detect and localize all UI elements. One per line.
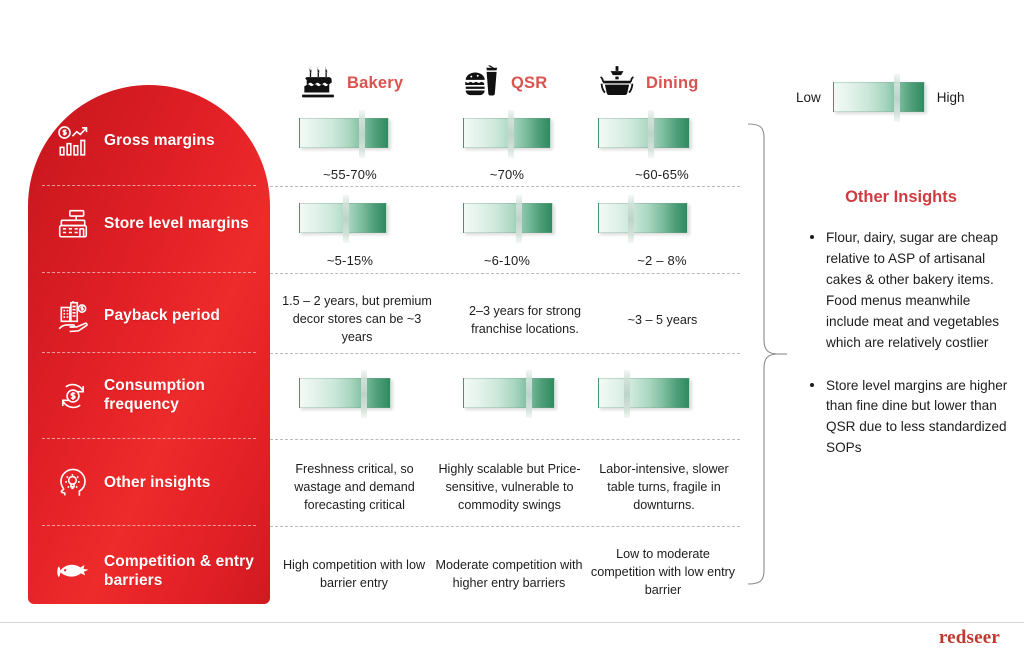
rating-bar-store-dining [598, 203, 688, 233]
sidebar-divider [42, 185, 256, 186]
head-lightbulb-icon [56, 466, 90, 500]
gradient-bar [598, 118, 690, 148]
rating-bar-gross-bakery [299, 118, 389, 148]
column-header-bakery[interactable]: Bakery [299, 64, 403, 102]
matrix-cell-text: Low to moderate competition with low ent… [588, 546, 738, 600]
gradient-bar [299, 118, 389, 148]
legend-high-label: High [937, 90, 965, 105]
sidebar-row-label: Competition & entry barriers [104, 553, 270, 591]
rating-bar-value: ~60-65% [602, 167, 722, 182]
legend-gradient-bar [833, 82, 925, 112]
column-header-label: QSR [511, 74, 547, 93]
bullet-icon [810, 235, 814, 239]
matrix-cell-text: High competition with low barrier entry [280, 557, 428, 593]
dollar-bar-chart-icon [56, 124, 90, 158]
bar-marker[interactable] [359, 110, 365, 158]
gradient-bar [463, 118, 551, 148]
sidebar-row-label: Other insights [104, 474, 210, 493]
legend-marker [894, 74, 900, 122]
bar-marker[interactable] [508, 110, 514, 158]
column-header-qsr[interactable]: QSR [463, 64, 547, 102]
matrix-cell-text: Labor-intensive, slower table turns, fra… [590, 461, 738, 515]
matrix-cell-text: ~3 – 5 years [600, 312, 725, 330]
rating-bar-value: ~6-10% [447, 253, 567, 268]
matrix-row-divider [270, 353, 740, 354]
dollar-refresh-cycle-icon [56, 379, 90, 413]
rating-bar-gross-qsr [463, 118, 551, 148]
sidebar-row-label: Gross margins [104, 132, 215, 151]
rating-bar-value: ~55-70% [290, 167, 410, 182]
sidebar-row-other-insights[interactable]: Other insights [28, 452, 270, 514]
legend-low-label: Low [796, 90, 821, 105]
birthday-cake-icon [299, 64, 337, 102]
gradient-bar [299, 203, 387, 233]
bar-marker[interactable] [526, 370, 532, 418]
other-insights-title: Other Insights [796, 188, 1006, 207]
matrix-row-divider [270, 439, 740, 440]
insight-item-text: Store level margins are higher than fine… [826, 378, 1007, 456]
buildings-in-hand-icon [56, 299, 90, 333]
scale-legend: Low High [796, 82, 965, 112]
bar-marker[interactable] [628, 195, 634, 243]
gradient-bar [463, 203, 553, 233]
matrix-cell-text: 2–3 years for strong franchise locations… [455, 303, 595, 339]
category-sidebar-panel: Gross margins Store level margins Paybac… [28, 85, 270, 604]
insight-item: Flour, dairy, sugar are cheap relative t… [806, 228, 1011, 354]
rating-bar-store-qsr [463, 203, 553, 233]
dining-table-icon [598, 64, 636, 102]
burger-drink-icon [463, 64, 501, 102]
rating-bar-cons-qsr [463, 378, 555, 408]
rating-bar-value: ~70% [447, 167, 567, 182]
sidebar-divider [42, 272, 256, 273]
infographic-page: Gross margins Store level margins Paybac… [0, 0, 1024, 656]
sidebar-row-store-level-margins[interactable]: Store level margins [28, 193, 270, 255]
column-header-label: Bakery [347, 74, 403, 93]
gradient-bar [299, 378, 391, 408]
matrix-row-divider [270, 526, 740, 527]
rating-bar-value: ~5-15% [290, 253, 410, 268]
column-header-label: Dining [646, 74, 699, 93]
sidebar-row-label: Store level margins [104, 215, 249, 234]
sidebar-row-gross-margins[interactable]: Gross margins [28, 105, 270, 177]
matrix-cell-text: Moderate competition with higher entry b… [430, 557, 588, 593]
sidebar-divider [42, 438, 256, 439]
sidebar-row-label: Payback period [104, 307, 220, 326]
sidebar-divider [42, 525, 256, 526]
rating-bar-value: ~2 – 8% [602, 253, 722, 268]
bar-marker[interactable] [361, 370, 367, 418]
gradient-bar [598, 203, 688, 233]
bar-marker[interactable] [343, 195, 349, 243]
rating-bar-gross-dining [598, 118, 690, 148]
bar-marker[interactable] [648, 110, 654, 158]
sidebar-divider [42, 352, 256, 353]
gradient-bar [598, 378, 690, 408]
matrix-row-divider [270, 186, 740, 187]
fish-arrow-icon [56, 555, 90, 589]
redseer-logo: redseer [939, 627, 1000, 649]
bar-marker[interactable] [624, 370, 630, 418]
sidebar-row-competition-entry-barriers[interactable]: Competition & entry barriers [28, 540, 270, 604]
matrix-cell-text: Highly scalable but Price-sensitive, vul… [433, 461, 586, 515]
grouping-brace [746, 122, 788, 586]
footer-divider [0, 622, 1024, 623]
rating-bar-cons-dining [598, 378, 690, 408]
column-header-dining[interactable]: Dining [598, 64, 699, 102]
insight-item: Store level margins are higher than fine… [806, 376, 1011, 460]
bullet-icon [810, 383, 814, 387]
other-insights-list: Flour, dairy, sugar are cheap relative t… [806, 228, 1011, 481]
matrix-cell-text: Freshness critical, so wastage and deman… [283, 461, 426, 515]
matrix-cell-text: 1.5 – 2 years, but premium decor stores … [277, 293, 437, 347]
insight-item-text: Flour, dairy, sugar are cheap relative t… [826, 230, 999, 350]
sidebar-row-label: Consumption frequency [104, 377, 270, 415]
bar-marker[interactable] [516, 195, 522, 243]
gradient-bar [463, 378, 555, 408]
cash-register-icon [56, 207, 90, 241]
sidebar-row-consumption-frequency[interactable]: Consumption frequency [28, 365, 270, 427]
rating-bar-cons-bakery [299, 378, 391, 408]
matrix-row-divider [270, 273, 740, 274]
sidebar-row-payback-period[interactable]: Payback period [28, 285, 270, 347]
rating-bar-store-bakery [299, 203, 387, 233]
